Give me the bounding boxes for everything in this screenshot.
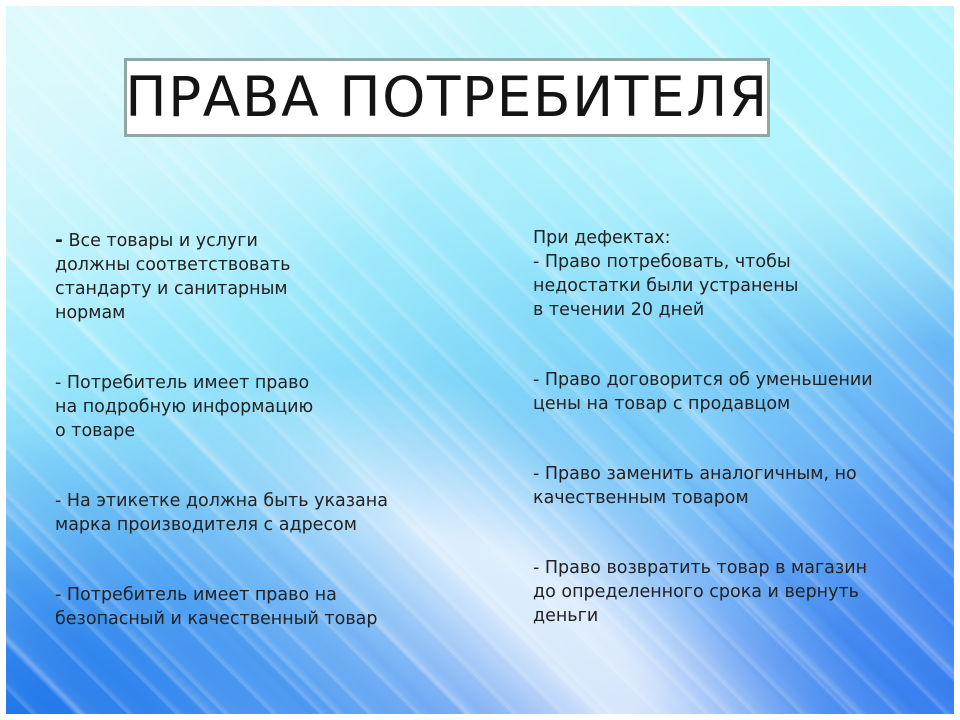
left-text-column: - Все товары и услуги должны соответство… (55, 204, 485, 655)
list-item: - Потребитель имеет право на безопасный … (55, 583, 485, 631)
list-item: При дефектах: - Право потребовать, чтобы… (533, 226, 933, 322)
slide-title-box: ПРАВА ПОТРЕБИТЕЛЯ (124, 58, 770, 137)
bullet-dash: - (55, 229, 63, 251)
list-item-text: - Потребитель имеет право на подробную и… (55, 373, 313, 441)
list-item-text: - Право заменить аналогичным, но качеств… (533, 464, 857, 508)
page-title: ПРАВА ПОТРЕБИТЕЛЯ (125, 70, 768, 125)
right-text-column: При дефектах: - Право потребовать, чтобы… (533, 202, 933, 652)
list-item-text: - На этикетке должна быть указана марка … (55, 491, 388, 535)
list-item: - На этикетке должна быть указана марка … (55, 489, 485, 537)
presentation-slide: ПРАВА ПОТРЕБИТЕЛЯ - Все товары и услуги … (0, 0, 960, 720)
list-item-text: - Право возвратить товар в магазин до оп… (533, 558, 867, 626)
list-item: - Потребитель имеет право на подробную и… (55, 371, 485, 443)
list-item-text: Все товары и услуги должны соответствова… (55, 231, 290, 323)
list-item: - Право возвратить товар в магазин до оп… (533, 556, 933, 628)
list-item: - Право заменить аналогичным, но качеств… (533, 462, 933, 510)
list-item: - Право договорится об уменьшении цены н… (533, 368, 933, 416)
list-item-text: - Потребитель имеет право на безопасный … (55, 585, 377, 629)
list-item: - Все товары и услуги должны соответство… (55, 228, 485, 325)
list-item-text: При дефектах: - Право потребовать, чтобы… (533, 228, 798, 320)
list-item-text: - Право договорится об уменьшении цены н… (533, 370, 873, 414)
